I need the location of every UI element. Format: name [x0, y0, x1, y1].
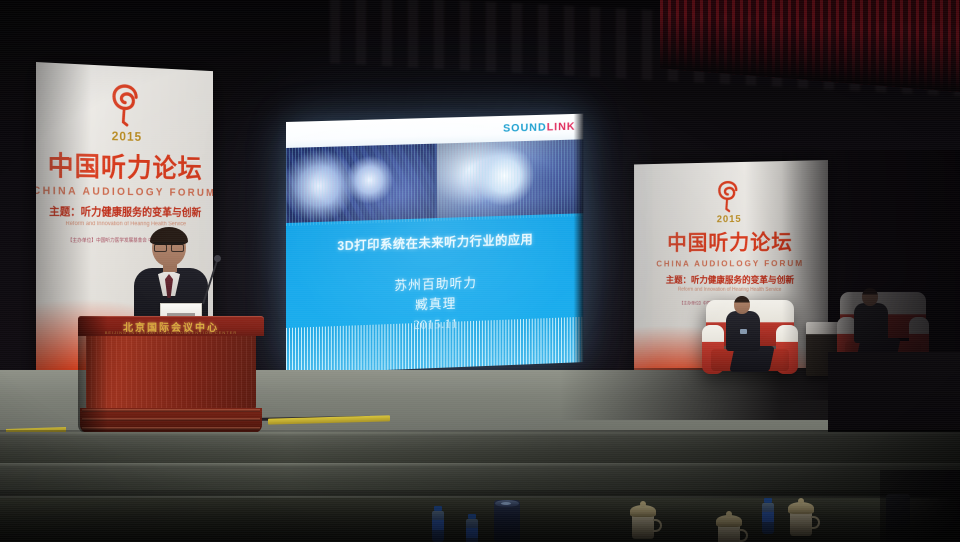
soundlink-logo: SOUNDLINK: [503, 121, 576, 134]
wooden-podium: 北京国际会议中心 BEIJING INTERNATIONAL CONVENTIO…: [78, 316, 264, 433]
water-bottle: [466, 514, 478, 542]
slide-date: 2015.11: [394, 313, 477, 336]
thermos-cup: [494, 500, 520, 542]
slide-title: 3D打印系统在未来听力行业的应用: [337, 229, 533, 255]
stage-step: [0, 463, 960, 499]
podium-trim-band: [82, 409, 260, 412]
slide-photo-children-outdoors: [286, 144, 435, 223]
banner-year: 2015: [112, 129, 142, 144]
eyeglasses-icon: [154, 242, 184, 249]
lidded-tea-mug: [716, 515, 742, 542]
water-bottle: [432, 506, 444, 542]
stage-right-dark-block: [828, 352, 960, 436]
banner-subtitle-cn: 主题：听力健康服务的变革与创新: [666, 273, 794, 286]
water-bottle: [762, 498, 774, 534]
banner-title-cn: 中国听力论坛: [667, 227, 792, 257]
banner-title-cn: 中国听力论坛: [48, 145, 203, 186]
soundlink-logo-link: LINK: [547, 120, 576, 133]
podium-trim-band: [82, 427, 260, 430]
foreground-right-darkness: [880, 470, 960, 542]
lidded-tea-mug: [788, 502, 814, 536]
cochlea-spiral-logo: [108, 83, 145, 129]
soundlink-logo-sound: SOUND: [503, 121, 547, 134]
podium-side-shadow: [78, 316, 108, 433]
podium-and-speaker: 北京国际会议中心 BEIJING INTERNATIONAL CONVENTIO…: [78, 228, 278, 433]
banner-title-en: CHINA AUDIOLOGY FORUM: [656, 258, 804, 268]
banner-subtitle-en: Reform and Innovation of Hearing Health …: [678, 287, 782, 293]
slide-subtitle-block: 苏州百助听力 臧真理 2015.11: [394, 273, 477, 336]
banner-subtitle-cn: 主题：听力健康服务的变革与创新: [49, 203, 201, 220]
cochlea-spiral-logo: [715, 180, 744, 214]
podium-front-panel: [86, 336, 256, 412]
panelist-with-phone: [726, 296, 782, 378]
microphone-head: [214, 255, 221, 262]
projection-screen: SOUNDLINK 3D打印系统在未来听力行业的应用 苏州百助听力 臧真理 20…: [286, 114, 583, 374]
slide-body: 3D打印系统在未来听力行业的应用 苏州百助听力 臧真理 2015.11: [286, 213, 583, 374]
slide-company: 苏州百助听力: [394, 273, 477, 296]
banner-year: 2015: [717, 214, 742, 225]
conference-stage-photo: 2015 中国听力论坛 CHINA AUDIOLOGY FORUM 主题：听力健…: [0, 0, 960, 542]
speaker-person: [130, 228, 212, 324]
slide-photo-strip: [286, 139, 583, 223]
stage-step: [0, 432, 960, 466]
lidded-tea-mug: [630, 505, 656, 539]
slide-photo-child-closeup: [437, 139, 584, 218]
banner-title-en: CHINA AUDIOLOGY FORUM: [36, 185, 213, 199]
mobile-phone-icon: [740, 329, 747, 334]
podium-trim-band: [82, 418, 260, 421]
